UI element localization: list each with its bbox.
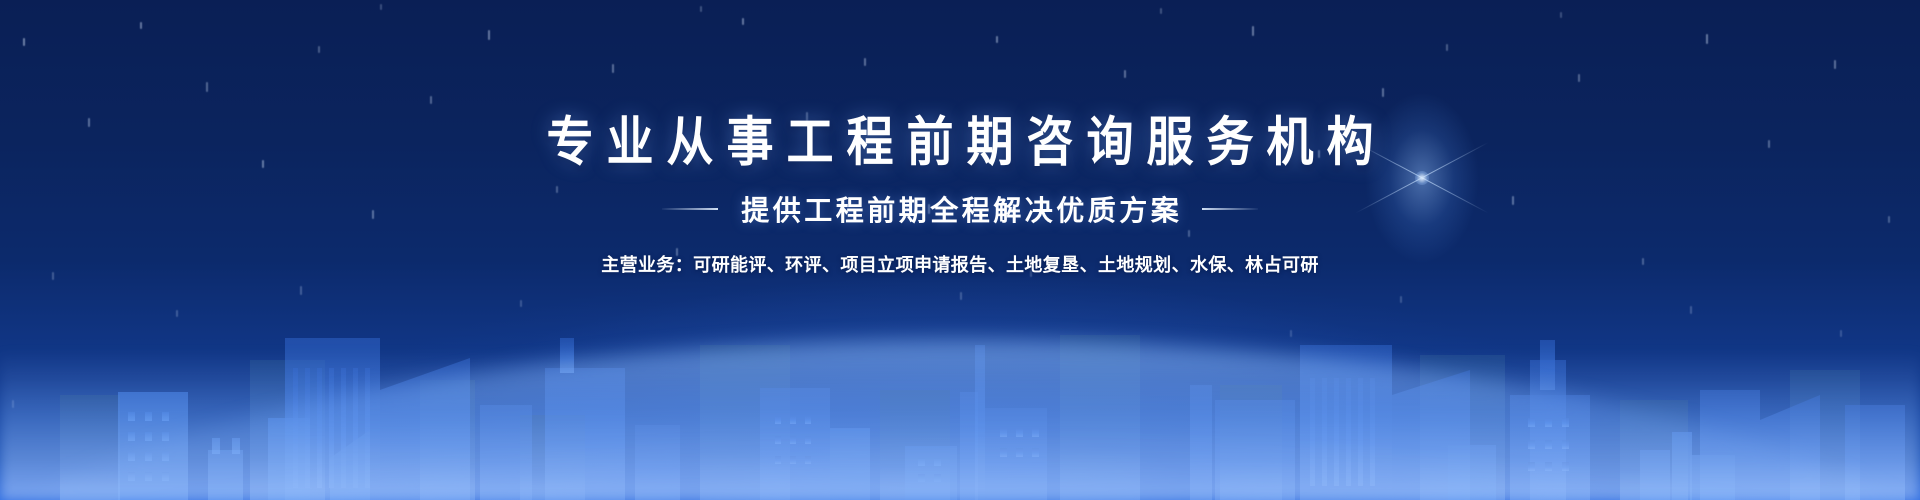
services-line: 主营业务：可研能评、环评、项目立项申请报告、土地复垦、土地规划、水保、林占可研 [601,251,1319,277]
page-title: 专业从事工程前期咨询服务机构 [534,112,1387,174]
decor-dash-left [662,208,718,210]
subtitle-row: 提供工程前期全程解决优质方案 [662,189,1259,229]
decor-dash-right [1202,208,1258,210]
banner-content: 专业从事工程前期咨询服务机构 提供工程前期全程解决优质方案 主营业务：可研能评、… [0,0,1920,500]
page-subtitle: 提供工程前期全程解决优质方案 [738,189,1183,229]
hero-banner: 专业从事工程前期咨询服务机构 提供工程前期全程解决优质方案 主营业务：可研能评、… [0,0,1920,500]
